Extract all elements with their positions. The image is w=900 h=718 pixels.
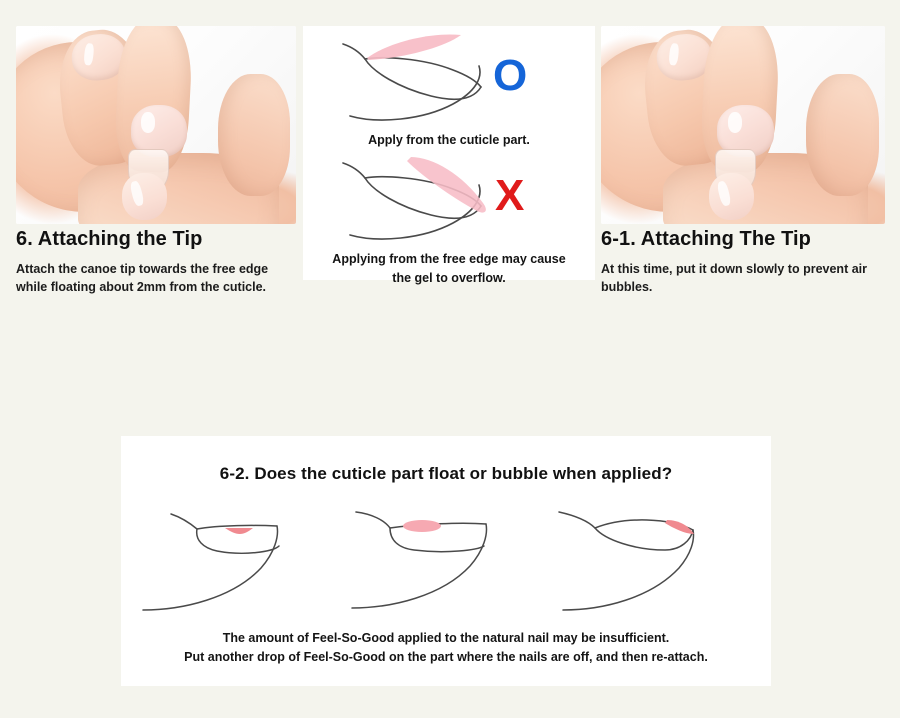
bad-caption-line1: Applying from the free edge may cause [303,249,595,268]
step-6-1-caption: 6-1. Attaching The Tip At this time, put… [601,228,885,297]
instruction-page: 6. Attaching the Tip Attach the canoe ti… [0,0,900,718]
gel-spot [665,520,694,534]
bad-caption-line2: the gel to overflow. [303,268,595,287]
step-6-2-title: 6-2. Does the cuticle part float or bubb… [121,436,771,484]
top-row: 6. Attaching the Tip Attach the canoe ti… [0,0,900,340]
side-finger-shape [218,74,291,197]
good-bad-comparison-panel: O Apply from the cuticle part. X Applyin… [303,26,595,280]
nail-gel-spot-center-diagram [133,498,338,623]
step-6-2-panel: 6-2. Does the cuticle part float or bubb… [121,436,771,686]
nail-gel-spot-right-diagram [555,498,760,623]
bad-diagram: X [303,149,595,249]
gel-spot [225,528,253,534]
step-6-caption: 6. Attaching the Tip Attach the canoe ti… [16,228,296,297]
gel-shape [367,34,461,60]
gel-overflow-shape [407,157,486,213]
good-diagram-svg [303,26,595,130]
step-6-body: Attach the canoe tip towards the free ed… [16,261,296,297]
lower-nail-shape [709,173,754,221]
step-6-title: 6. Attaching the Tip [16,228,296,251]
step-6-2-caption-line2: Put another drop of Feel-So-Good on the … [121,648,771,667]
ok-mark-icon: O [493,54,527,98]
step-6-1-column: 6-1. Attaching The Tip At this time, put… [601,0,885,198]
step-6-2-caption: The amount of Feel-So-Good applied to th… [121,629,771,666]
side-finger-shape [806,74,880,197]
step-6-1-title: 6-1. Attaching The Tip [601,228,885,251]
lower-nail-shape [122,173,167,221]
gel-spot [403,520,441,532]
step-6-2-diagrams [121,498,771,623]
step-6-column: 6. Attaching the Tip Attach the canoe ti… [16,0,296,198]
good-diagram: O [303,26,595,130]
bad-diagram-svg [303,149,595,249]
good-caption: Apply from the cuticle part. [303,130,595,149]
step-6-1-body: At this time, put it down slowly to prev… [601,261,885,297]
ng-mark-icon: X [495,174,524,218]
step-6-2-caption-line1: The amount of Feel-So-Good applied to th… [121,629,771,648]
nail-gel-spot-left-diagram [344,498,549,623]
step-6-1-photo [601,26,885,224]
step-6-photo [16,26,296,224]
